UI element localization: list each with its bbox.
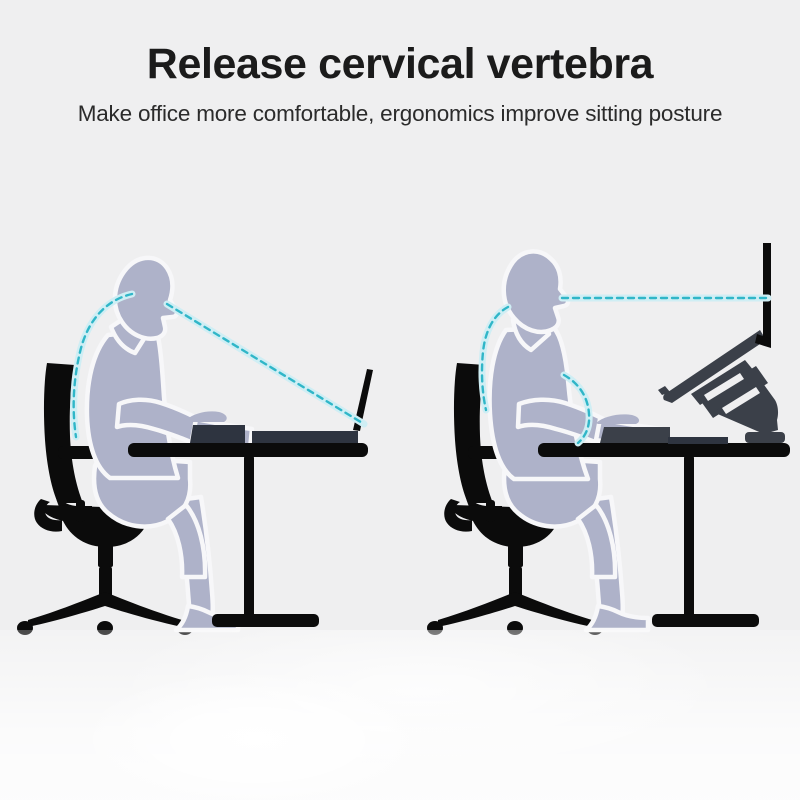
panel-bad-posture: [17, 258, 373, 635]
keyboard-icon: [190, 425, 245, 443]
laptop-stand-icon: [658, 330, 785, 443]
illustration-scene: [0, 0, 800, 800]
ergonomics-illustration: [0, 0, 800, 800]
sightline-dashed-icon: [167, 304, 364, 424]
mouse-icon: [186, 411, 227, 422]
panel-good-posture: [427, 243, 790, 635]
poster-canvas: Release cervical vertebra Make office mo…: [0, 0, 800, 800]
laptop-icon: [252, 369, 373, 443]
mouse-icon: [596, 414, 639, 424]
keyboard-icon: [600, 427, 728, 444]
